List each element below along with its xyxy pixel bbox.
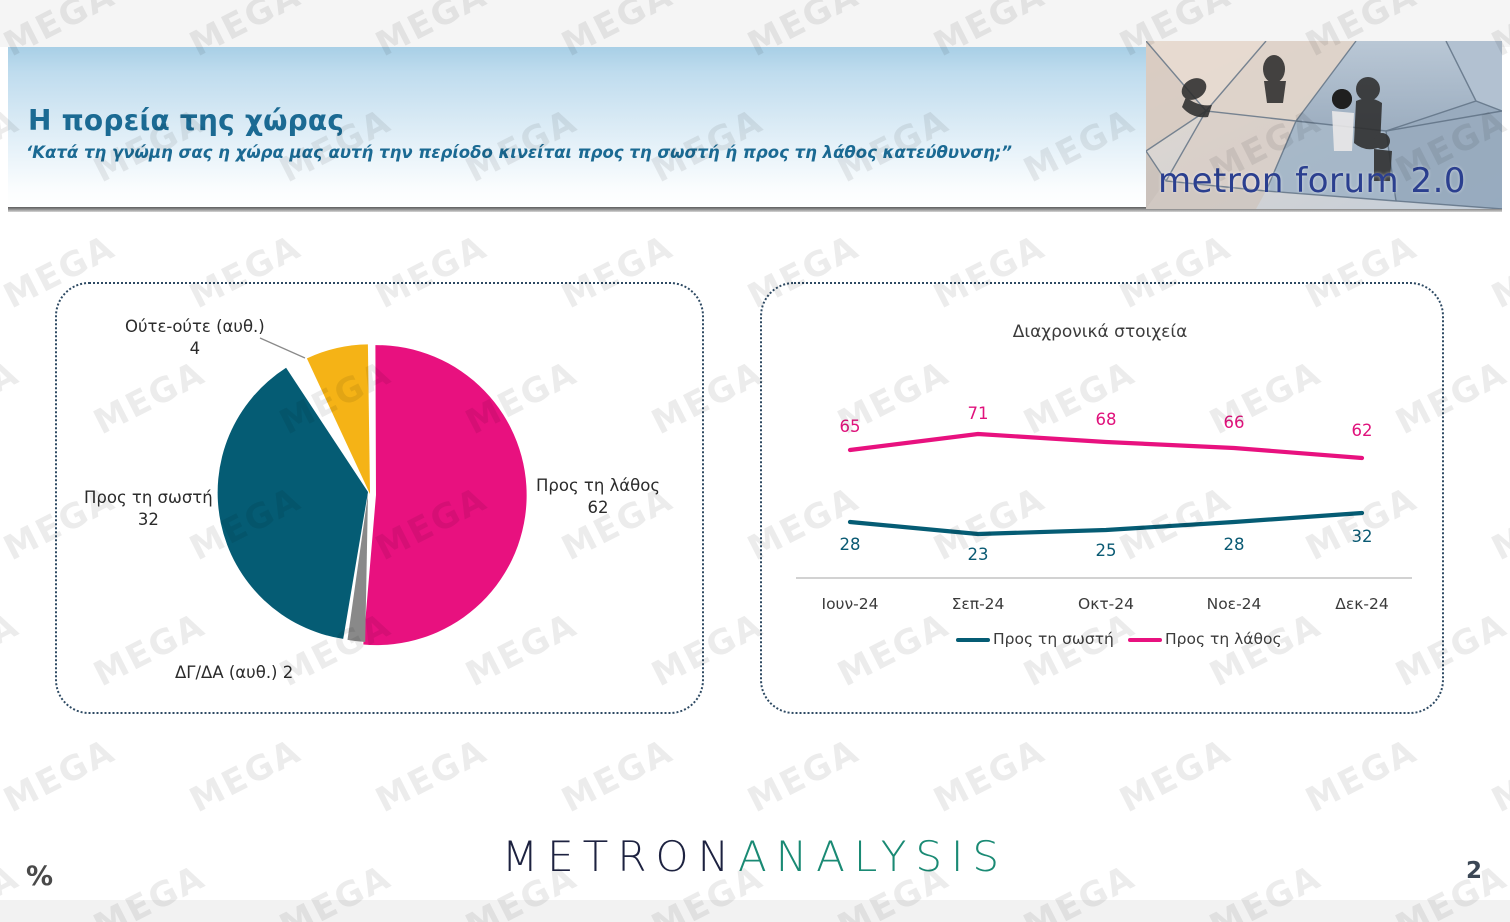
x-tick-2: Οκτ-24 — [1046, 595, 1166, 613]
pie-leader-line — [260, 338, 305, 358]
pie-label-oute-oute: Ούτε-ούτε (αυθ.) 4 — [125, 316, 265, 361]
x-tick-1: Σεπ-24 — [918, 595, 1038, 613]
x-tick-0: Ιουν-24 — [790, 595, 910, 613]
watermark-text: MEGA — [1113, 731, 1237, 821]
watermark-text: MEGA — [0, 605, 26, 695]
pie-label-pros-ti-lathos: Προς τη λάθος 62 — [536, 475, 660, 520]
watermark-text: MEGA — [183, 731, 307, 821]
watermark-text: MEGA — [741, 731, 865, 821]
watermark-text: MEGA — [1485, 731, 1510, 821]
line-value-lathos-3: 66 — [1210, 413, 1258, 432]
line-value-lathos-1: 71 — [954, 404, 1002, 423]
pie-label-pros-ti-sosti-value: 32 — [138, 510, 159, 529]
watermark-text: MEGA — [1485, 479, 1510, 569]
percent-symbol: % — [26, 861, 53, 892]
watermark-text: MEGA — [927, 731, 1051, 821]
x-tick-3: Νοε-24 — [1174, 595, 1294, 613]
pie-label-oute-oute-name: Ούτε-ούτε (αυθ.) — [125, 317, 265, 336]
legend-swatch-sosti-icon — [956, 638, 990, 642]
pie-label-oute-oute-value: 4 — [190, 339, 201, 358]
watermark-text: MEGA — [0, 353, 26, 443]
line-series-pros-ti-sosti — [850, 513, 1362, 534]
pie-label-pros-ti-lathos-value: 62 — [588, 498, 609, 517]
pie-label-pros-ti-sosti: Προς τη σωστή 32 — [84, 487, 213, 532]
legend-item-pros-ti-lathos[interactable]: Προς τη λάθος — [1128, 630, 1282, 648]
watermark-text: MEGA — [0, 731, 122, 821]
line-series-pros-ti-lathos — [850, 434, 1362, 458]
logo-wordmark: metron forum 2.0 — [1158, 161, 1466, 201]
watermark-text: MEGA — [369, 731, 493, 821]
watermark-text: MEGA — [1299, 731, 1423, 821]
line-value-sosti-4: 32 — [1338, 527, 1386, 546]
watermark-text: MEGA — [1485, 227, 1510, 317]
line-value-sosti-0: 28 — [826, 535, 874, 554]
page-title: Η πορεία της χώρας — [28, 104, 344, 137]
slide-canvas: Η πορεία της χώρας ‘Κατά τη γνώμη σας η … — [0, 0, 1510, 922]
pie-label-dg-da-name: ΔΓ/ΔΑ (αυθ.) 2 — [175, 663, 293, 682]
bottom-margin-strip — [0, 900, 1510, 922]
legend-label-sosti: Προς τη σωστή — [993, 630, 1114, 648]
page-number: 2 — [1466, 858, 1482, 884]
line-value-lathos-0: 65 — [826, 417, 874, 436]
line-value-lathos-4: 62 — [1338, 421, 1386, 440]
line-value-sosti-2: 25 — [1082, 541, 1130, 560]
line-value-sosti-3: 28 — [1210, 535, 1258, 554]
legend-item-pros-ti-sosti[interactable]: Προς τη σωστή — [956, 630, 1114, 648]
watermark-text: MEGA — [555, 731, 679, 821]
pie-label-dg-da: ΔΓ/ΔΑ (αυθ.) 2 — [175, 662, 293, 684]
pie-slices — [218, 344, 527, 645]
legend-label-lathos: Προς τη λάθος — [1165, 630, 1282, 648]
metron-analysis-logo: METRONANALYSIS — [0, 832, 1510, 881]
pie-slice-pros-ti-lathos — [363, 345, 526, 645]
top-margin-strip — [0, 0, 1510, 47]
brand-analysis: ANALYSIS — [738, 832, 1008, 881]
line-value-sosti-1: 23 — [954, 545, 1002, 564]
brand-metron: METRON — [502, 832, 738, 881]
metron-forum-logo: metron forum 2.0 — [1146, 41, 1502, 209]
x-tick-4: Δεκ-24 — [1302, 595, 1422, 613]
line-value-lathos-2: 68 — [1082, 410, 1130, 429]
pie-label-pros-ti-sosti-name: Προς τη σωστή — [84, 488, 213, 507]
page-subtitle: ‘Κατά τη γνώμη σας η χώρα μας αυτή την π… — [26, 143, 1012, 162]
pie-label-pros-ti-lathos-name: Προς τη λάθος — [536, 476, 660, 495]
legend-swatch-lathos-icon — [1128, 638, 1162, 642]
